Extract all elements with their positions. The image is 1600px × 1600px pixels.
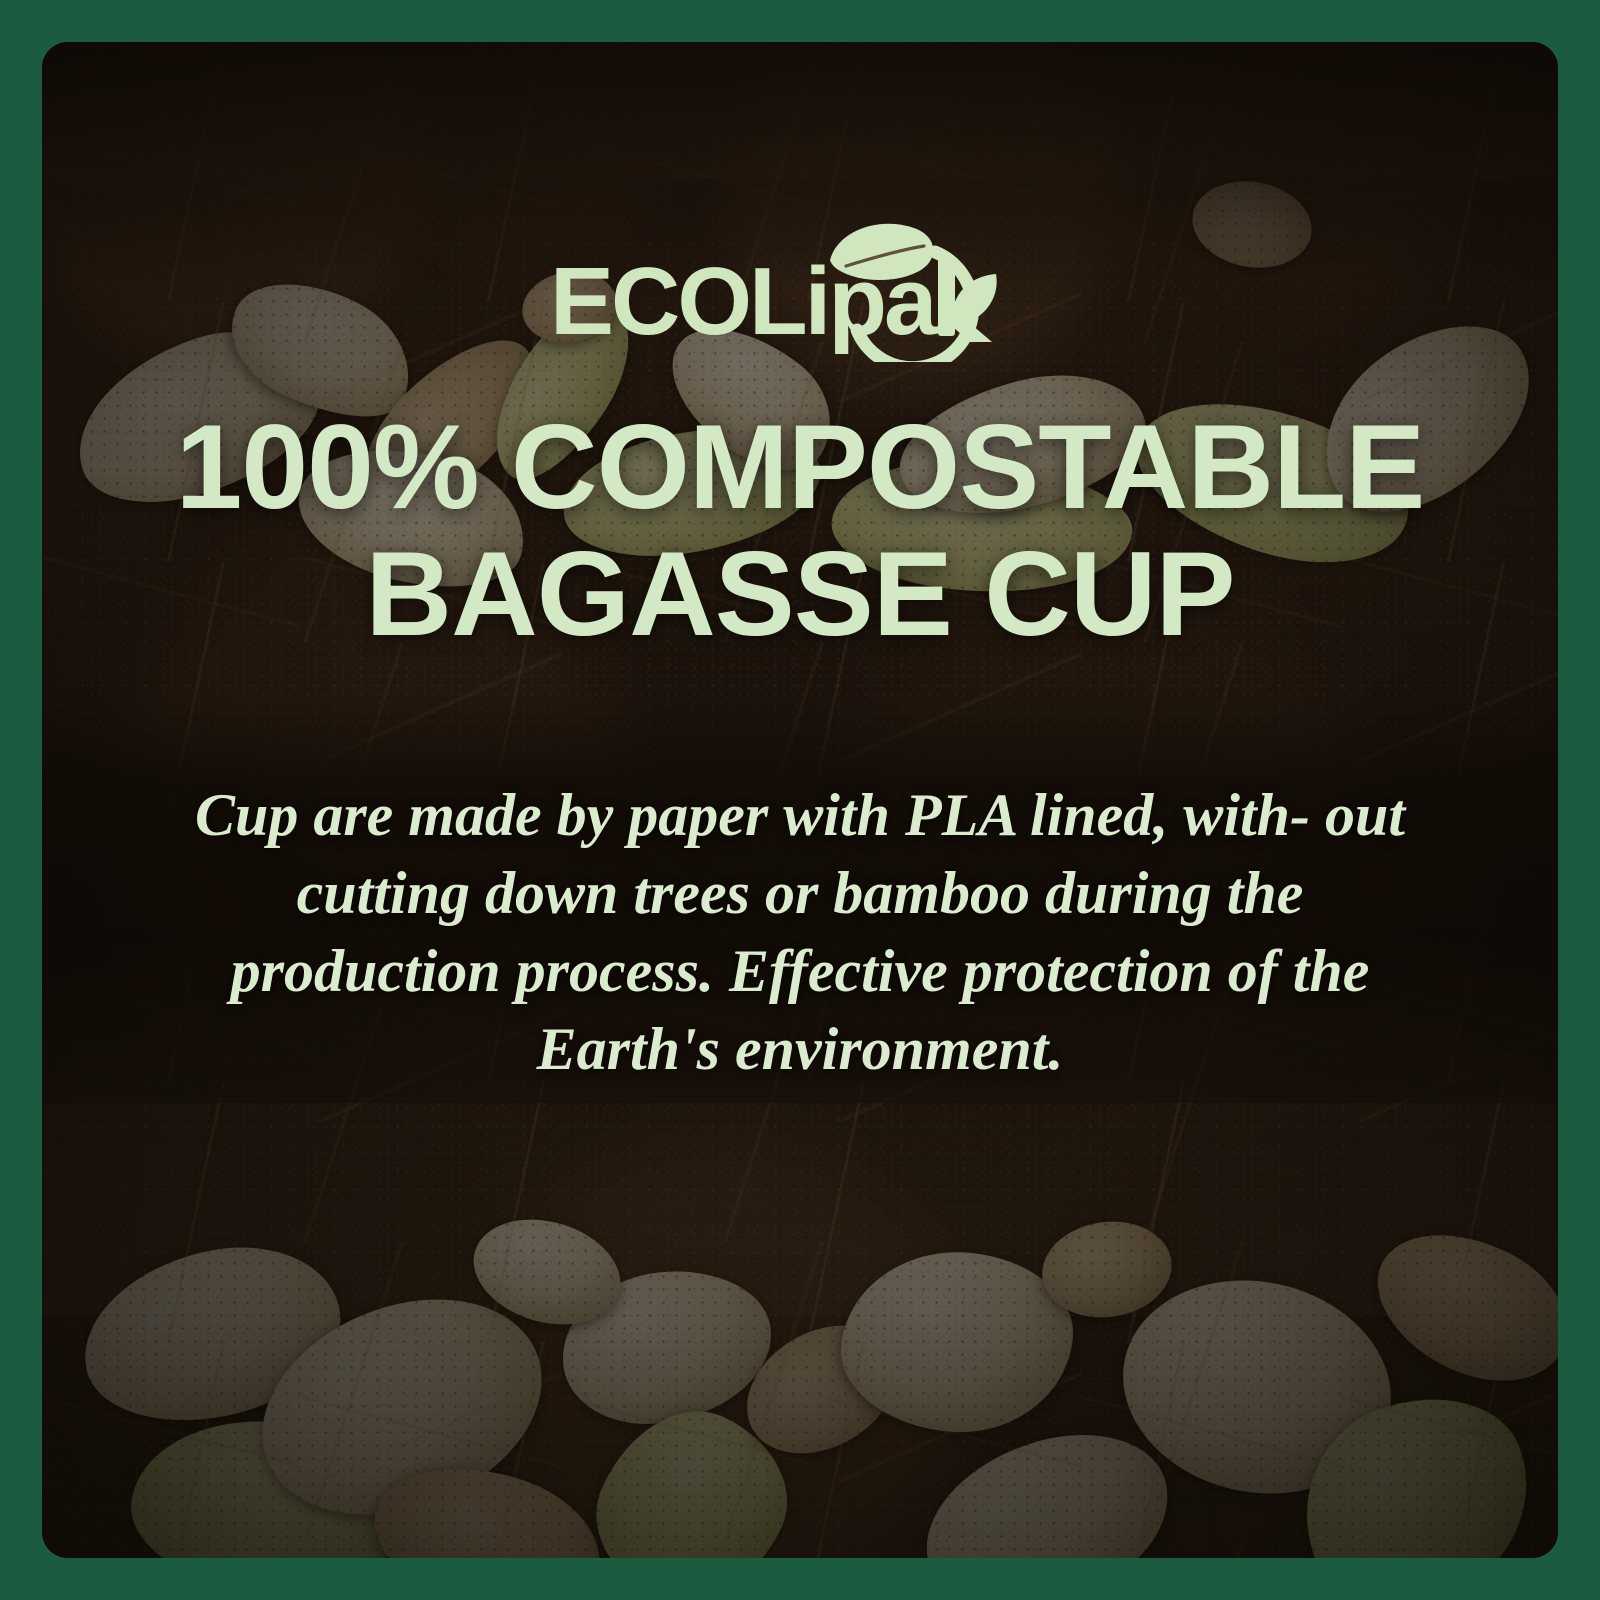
logo-svg: ECOLipa bbox=[540, 222, 1060, 362]
poster-content: ECOLipa 100% COMPOSTABLE BAGASSE CUP Cup… bbox=[42, 42, 1558, 1558]
description-paragraph: Cup are made by paper with PLA lined, wi… bbox=[160, 776, 1440, 1088]
headline-line-2: BAGASSE CUP bbox=[130, 531, 1470, 658]
body-line-1: Cup are made by paper with PLA lined, wi… bbox=[195, 782, 1310, 848]
poster: ECOLipa 100% COMPOSTABLE BAGASSE CUP Cup… bbox=[0, 0, 1600, 1600]
headline-line-1: 100% COMPOSTABLE bbox=[176, 400, 1425, 534]
page-title: 100% COMPOSTABLE BAGASSE CUP bbox=[130, 404, 1470, 658]
background-photo: ECOLipa 100% COMPOSTABLE BAGASSE CUP Cup… bbox=[42, 42, 1558, 1558]
logo-wordmark: ECOLipa bbox=[550, 248, 938, 355]
brand-logo: ECOLipa bbox=[540, 222, 1060, 362]
body-line-4: Earth's environment. bbox=[537, 1016, 1064, 1082]
body-line-3: production process. Effective protection… bbox=[231, 938, 1370, 1004]
